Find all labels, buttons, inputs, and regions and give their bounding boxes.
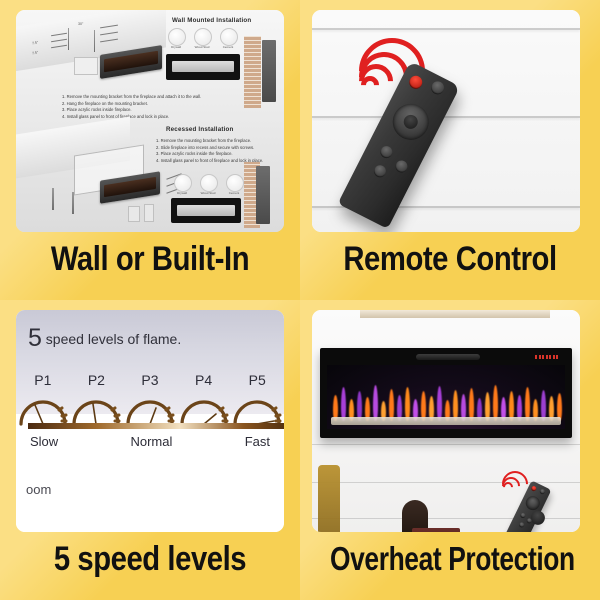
- decor-books: [412, 528, 460, 532]
- glass-panel-diagram-recessed: [171, 198, 241, 223]
- wall-mounted-steps: 1. Remove the mounting bracket from the …: [62, 94, 201, 120]
- installation-diagram-image: 30" 7.5" 7.5" Wall Mounted Installation: [16, 10, 284, 232]
- electric-fireplace-unit: [320, 348, 572, 438]
- wall-step-3: 3. Place acrylic rocks inside fireplace.: [62, 107, 201, 114]
- wall-step-4: 4. Install glass panel to front of firep…: [62, 114, 201, 121]
- speed-levels-image: 5 speed levels of flame. P1 P2 P3 P4 P5: [16, 310, 284, 532]
- mode-button[interactable]: [429, 79, 446, 96]
- speed-scale-bar: [28, 423, 284, 429]
- decor-lamp: [318, 465, 340, 532]
- caption-overheat-protection: Overheat Protection: [330, 540, 570, 578]
- install-surface-label-woodstud: Wood Stud: [191, 45, 213, 49]
- heat-button[interactable]: [372, 163, 388, 179]
- dimension-label-1: 30": [78, 22, 83, 26]
- heat-button[interactable]: [518, 522, 525, 529]
- recessed-step-1: 1. Remove the mounting bracket from the …: [156, 138, 263, 145]
- panel-overheat-protection: Overheat Protection: [300, 300, 600, 600]
- recessed-surface-label-drywall: Drywall: [171, 191, 193, 195]
- install-surface-label-drywall: Drywall: [165, 45, 187, 49]
- speed-label-p1: P1: [16, 372, 70, 388]
- partial-cropped-text: oom: [26, 482, 51, 497]
- mantel-shelf: [360, 310, 550, 318]
- recessed-steps: 1. Remove the mounting bracket from the …: [156, 138, 263, 164]
- recessed-step-3: 3. Place acrylic rocks inside the firepl…: [156, 151, 263, 158]
- speed-label-p2: P2: [70, 372, 124, 388]
- timer-button[interactable]: [520, 512, 527, 519]
- dpad-control[interactable]: [523, 494, 542, 513]
- speed-heading-text: speed levels of flame.: [42, 331, 181, 347]
- product-feature-collage: 30" 7.5" 7.5" Wall Mounted Installation: [0, 0, 600, 600]
- remote-control-image: [312, 10, 580, 232]
- fireplace-handle: [416, 354, 480, 360]
- speed-scale-labels: Slow Normal Fast: [16, 434, 284, 449]
- wall-mounted-title: Wall Mounted Installation: [172, 17, 251, 24]
- timer-button[interactable]: [378, 144, 394, 160]
- remote-control-device: [338, 61, 461, 229]
- power-button[interactable]: [530, 485, 537, 492]
- scale-label-fast: Fast: [245, 434, 270, 449]
- speed-label-p4: P4: [177, 372, 231, 388]
- panel-remote-control: Remote Control: [300, 0, 600, 300]
- scale-label-normal: Normal: [58, 434, 245, 449]
- dpad-control[interactable]: [387, 98, 435, 146]
- recessed-step-2: 2. Slide fireplace into recess and secur…: [156, 145, 263, 152]
- speed-count-number: 5: [28, 324, 42, 352]
- flame-button[interactable]: [393, 158, 409, 174]
- mode-button[interactable]: [539, 488, 546, 495]
- fireplace-glass: [327, 365, 565, 429]
- recessed-surface-label-woodstud: Wood Stud: [197, 191, 219, 195]
- caption-five-speed-levels: 5 speed levels: [21, 540, 279, 579]
- speed-label-p5: P5: [230, 372, 284, 388]
- caption-wall-or-built-in: Wall or Built-In: [21, 240, 279, 279]
- power-button[interactable]: [407, 74, 424, 91]
- wall-step-2: 2. Hang the fireplace on the mounting br…: [62, 101, 201, 108]
- recessed-title: Recessed Installation: [166, 126, 233, 133]
- speed-level-labels: P1 P2 P3 P4 P5: [16, 372, 284, 388]
- panel-five-speed-levels: 5 speed levels of flame. P1 P2 P3 P4 P5: [0, 300, 300, 600]
- recessed-surface-label-cement: Cement: [223, 191, 245, 195]
- caption-remote-control: Remote Control: [321, 240, 579, 279]
- fireplace-room-image: [312, 310, 580, 532]
- scale-label-slow: Slow: [30, 434, 58, 449]
- speed-label-p3: P3: [123, 372, 177, 388]
- wall-step-1: 1. Remove the mounting bracket from the …: [62, 94, 201, 101]
- install-surface-label-cement: Cement: [217, 45, 239, 49]
- speed-card-heading: 5 speed levels of flame.: [28, 324, 181, 353]
- glass-panel-diagram-wall: [166, 54, 240, 80]
- flame-button[interactable]: [526, 517, 533, 524]
- led-display: [535, 355, 558, 359]
- panel-wall-or-built-in: 30" 7.5" 7.5" Wall Mounted Installation: [0, 0, 300, 300]
- ember-bed: [331, 417, 561, 425]
